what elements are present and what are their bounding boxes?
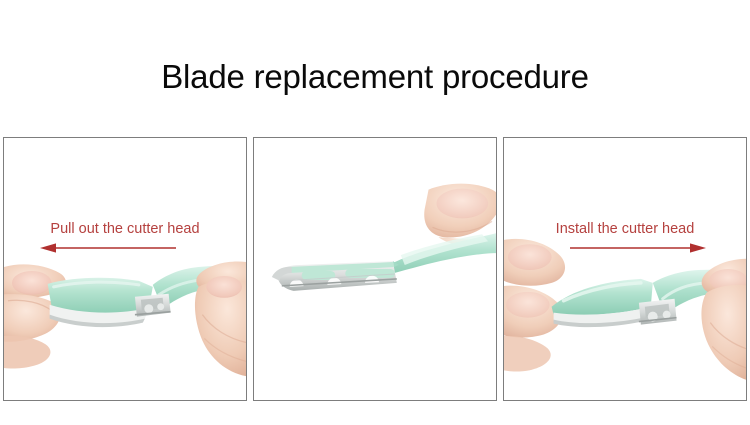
arrow-left-icon [40,242,176,254]
page-title: Blade replacement procedure [0,56,750,98]
arrow-right-icon [570,242,706,254]
step-caption-install: Install the cutter head [504,220,746,238]
step-caption-pull-out: Pull out the cutter head [4,220,246,238]
procedure-steps-row: Pull out the cutter head Two hands pulli… [3,137,747,403]
illustration-two-hands-separating-peeler [4,138,246,400]
illustration-hand-holding-blade-head [254,138,496,400]
step-panel-pull-out: Pull out the cutter head Two hands pulli… [3,137,247,401]
step-panel-blade-exposed: A hand holding the peeler handle with th… [253,137,497,401]
illustration-two-hands-joining-peeler [504,138,746,400]
step-panel-install: Install the cutter head Two hands pushin… [503,137,747,401]
